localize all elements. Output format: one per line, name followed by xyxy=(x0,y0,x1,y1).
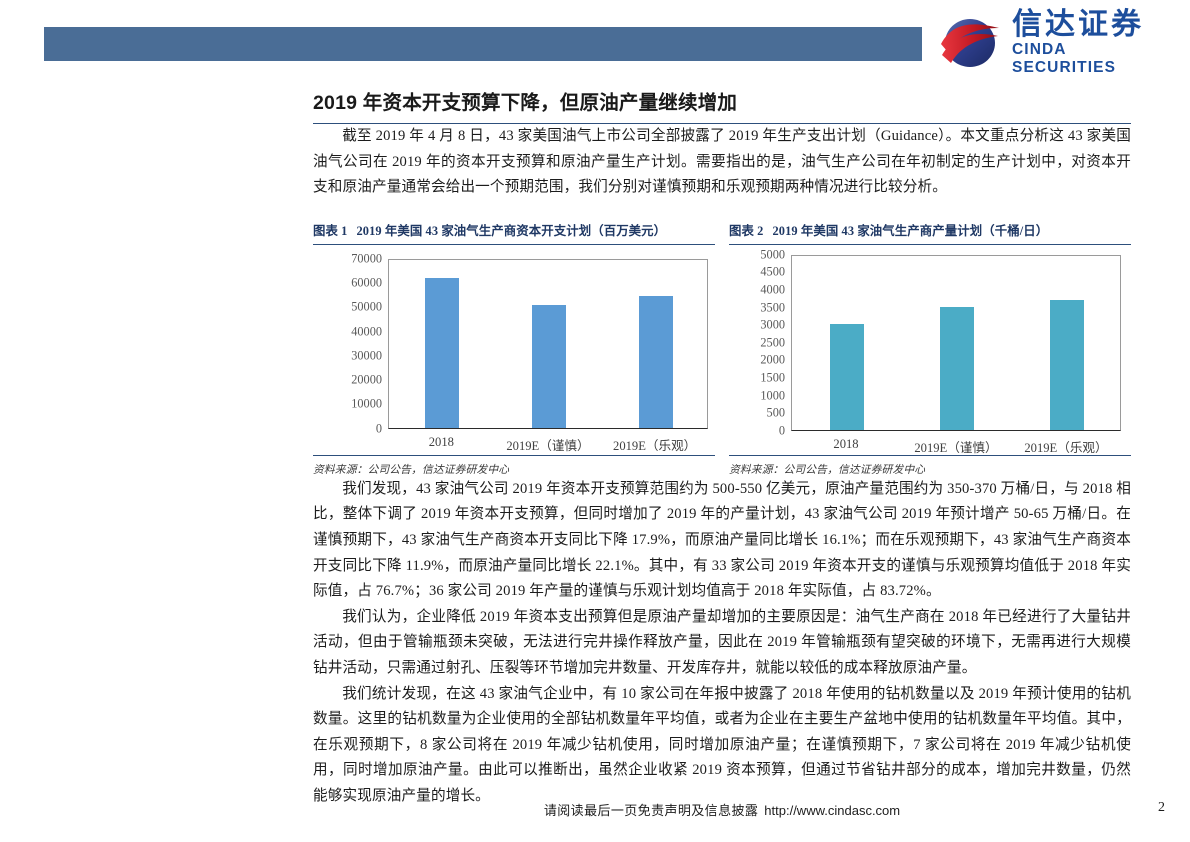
x-axis-category-label: 2019E（乐观） xyxy=(1024,437,1107,456)
content-column: 2019 年资本开支预算下降，但原油产量继续增加 截至 2019 年 4 月 8… xyxy=(313,80,1131,810)
bar xyxy=(425,278,459,428)
figure-1-number: 图表 1 xyxy=(313,224,347,238)
y-axis-tick-label: 3000 xyxy=(760,318,785,333)
figure-2: 图表 22019 年美国 43 家油气生产商产量计划（千桶/日） 5000450… xyxy=(729,221,1131,477)
y-axis-tick-label: 500 xyxy=(767,406,785,421)
y-axis-tick-label: 0 xyxy=(376,421,382,436)
y-axis-tick-label: 2000 xyxy=(760,353,785,368)
y-axis-tick-label: 4500 xyxy=(760,265,785,280)
y-axis-tick-label: 70000 xyxy=(351,251,382,266)
section-title: 2019 年资本开支预算下降，但原油产量继续增加 xyxy=(313,86,1131,124)
figure-2-chart: 5000450040003500300025002000150010005000… xyxy=(729,249,1131,454)
y-axis-tick-label: 0 xyxy=(779,423,785,438)
figure-2-source: 资料来源：公司公告，信达证券研发中心 xyxy=(729,455,1131,477)
footer-disclaimer: 请阅读最后一页免责声明及信息披露 xyxy=(544,800,758,819)
figures-row: 图表 12019 年美国 43 家油气生产商资本开支计划（百万美元） 70000… xyxy=(313,221,1131,477)
x-axis-category-label: 2019E（谨慎） xyxy=(506,435,589,454)
y-axis-tick-label: 60000 xyxy=(351,276,382,291)
figure-2-number: 图表 2 xyxy=(729,224,763,238)
y-axis-tick-label: 30000 xyxy=(351,348,382,363)
figure-1-chart: 7000060000500004000030000200001000002018… xyxy=(313,249,715,454)
y-axis-tick-label: 2500 xyxy=(760,335,785,350)
y-axis-tick-label: 3500 xyxy=(760,300,785,315)
cinda-ellipse-swoosh-logo xyxy=(938,15,1002,71)
bar xyxy=(1050,300,1084,430)
bar xyxy=(830,324,864,430)
x-axis-category-label: 2018 xyxy=(833,437,858,452)
y-axis-tick-label: 20000 xyxy=(351,373,382,388)
figure-1-title: 2019 年美国 43 家油气生产商资本开支计划（百万美元） xyxy=(356,224,666,238)
y-axis-tick-label: 50000 xyxy=(351,300,382,315)
bar xyxy=(639,296,673,428)
logo-name-cn: 信达证券 xyxy=(1012,9,1168,41)
y-axis-tick-label: 10000 xyxy=(351,397,382,412)
figure-2-rule xyxy=(729,244,1131,245)
page-header: 信达证券 CINDA SECURITIES xyxy=(0,0,1190,80)
y-axis-tick-label: 5000 xyxy=(760,247,785,262)
figure-2-caption: 图表 22019 年美国 43 家油气生产商产量计划（千桶/日） xyxy=(729,221,1131,239)
y-axis-tick-label: 40000 xyxy=(351,324,382,339)
x-axis-category-label: 2019E（谨慎） xyxy=(914,437,997,456)
page-footer: 请阅读最后一页免责声明及信息披露 http://www.cindasc.com … xyxy=(0,800,1190,830)
footer-url[interactable]: http://www.cindasc.com xyxy=(764,803,900,818)
figure-1-caption: 图表 12019 年美国 43 家油气生产商资本开支计划（百万美元） xyxy=(313,221,715,239)
plot-area xyxy=(791,255,1121,431)
x-axis-category-label: 2019E（乐观） xyxy=(613,435,696,454)
paragraph-intro: 截至 2019 年 4 月 8 日，43 家美国油气上市公司全部披露了 2019… xyxy=(313,124,1131,201)
figure-2-title: 2019 年美国 43 家油气生产商产量计划（千桶/日） xyxy=(772,224,1048,238)
header-blue-band xyxy=(44,27,922,61)
footer-center-block: 请阅读最后一页免责声明及信息披露 http://www.cindasc.com xyxy=(313,800,1131,819)
footer-page-number: 2 xyxy=(1158,800,1165,816)
x-axis-category-label: 2018 xyxy=(429,435,454,450)
y-axis-tick-label: 1000 xyxy=(760,388,785,403)
figure-1: 图表 12019 年美国 43 家油气生产商资本开支计划（百万美元） 70000… xyxy=(313,221,715,477)
paragraph-3: 我们认为，企业降低 2019 年资本支出预算但是原油产量却增加的主要原因是：油气… xyxy=(313,605,1131,682)
logo-name-en: CINDA SECURITIES xyxy=(1012,41,1168,77)
figure-1-rule xyxy=(313,244,715,245)
bar xyxy=(532,305,566,428)
company-logo: 信达证券 CINDA SECURITIES xyxy=(938,14,1168,72)
plot-area xyxy=(388,259,708,429)
y-axis-tick-label: 4000 xyxy=(760,282,785,297)
y-axis-tick-label: 1500 xyxy=(760,370,785,385)
bar xyxy=(940,307,974,430)
figure-1-source: 资料来源：公司公告，信达证券研发中心 xyxy=(313,455,715,477)
paragraph-4: 我们统计发现，在这 43 家油气企业中，有 10 家公司在年报中披露了 2018… xyxy=(313,682,1131,810)
paragraph-2: 我们发现，43 家油气公司 2019 年资本开支预算范围约为 500-550 亿… xyxy=(313,477,1131,605)
logo-text-block: 信达证券 CINDA SECURITIES xyxy=(1012,9,1168,77)
